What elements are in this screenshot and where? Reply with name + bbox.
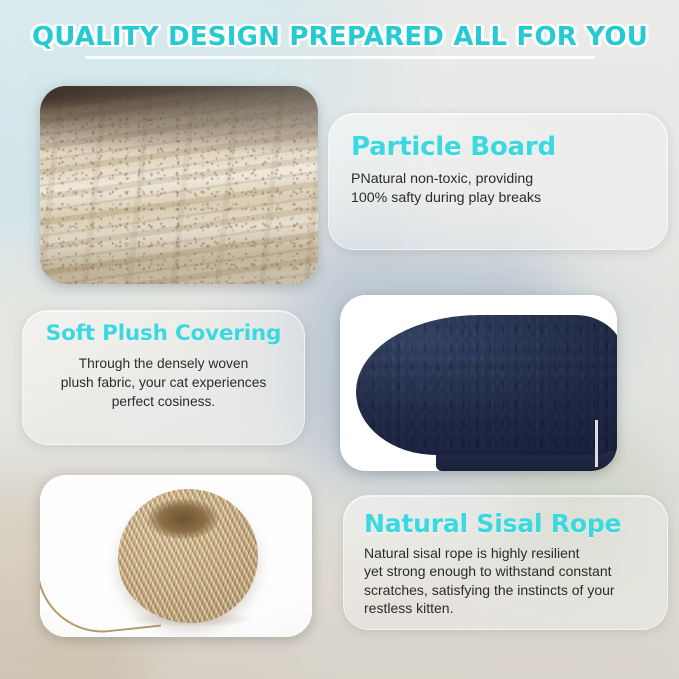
plush-fur-texture xyxy=(356,315,617,455)
infographic-canvas: QUALITY DESIGN PREPARED ALL FOR YOU Part… xyxy=(0,0,679,679)
rope-ball-center-hole xyxy=(148,499,218,539)
banner-title-wrap: QUALITY DESIGN PREPARED ALL FOR YOU xyxy=(0,22,679,52)
particle-board-text-card: Particle Board PNatural non-toxic, provi… xyxy=(328,113,668,250)
plush-fabric-body xyxy=(356,315,617,455)
soft-plush-photo xyxy=(340,295,617,471)
soft-plush-body: Through the densely woven plush fabric, … xyxy=(39,354,288,411)
soft-plush-heading: Soft Plush Covering xyxy=(39,323,288,346)
rope-ball xyxy=(118,489,258,623)
page-title: QUALITY DESIGN PREPARED ALL FOR YOU xyxy=(31,22,647,52)
sisal-rope-heading: Natural Sisal Rope xyxy=(364,511,653,537)
sisal-rope-card-inner: Natural Sisal Rope Natural sisal rope is… xyxy=(344,496,667,617)
board-light-falloff xyxy=(40,86,318,284)
particle-board-card-inner: Particle Board PNatural non-toxic, provi… xyxy=(329,114,667,208)
plush-seam-highlight xyxy=(595,420,598,467)
particle-board-body: PNatural non-toxic, providing 100% safty… xyxy=(351,170,647,208)
soft-plush-text-card: Soft Plush Covering Through the densely … xyxy=(22,310,305,445)
soft-plush-card-inner: Soft Plush Covering Through the densely … xyxy=(23,311,304,411)
sisal-rope-body: Natural sisal rope is highly resilient y… xyxy=(364,544,653,617)
sisal-rope-text-card: Natural Sisal Rope Natural sisal rope is… xyxy=(343,495,668,630)
sisal-rope-photo xyxy=(40,475,312,637)
title-underline xyxy=(85,56,595,59)
particle-board-photo xyxy=(40,86,318,284)
particle-board-heading: Particle Board xyxy=(351,134,647,161)
